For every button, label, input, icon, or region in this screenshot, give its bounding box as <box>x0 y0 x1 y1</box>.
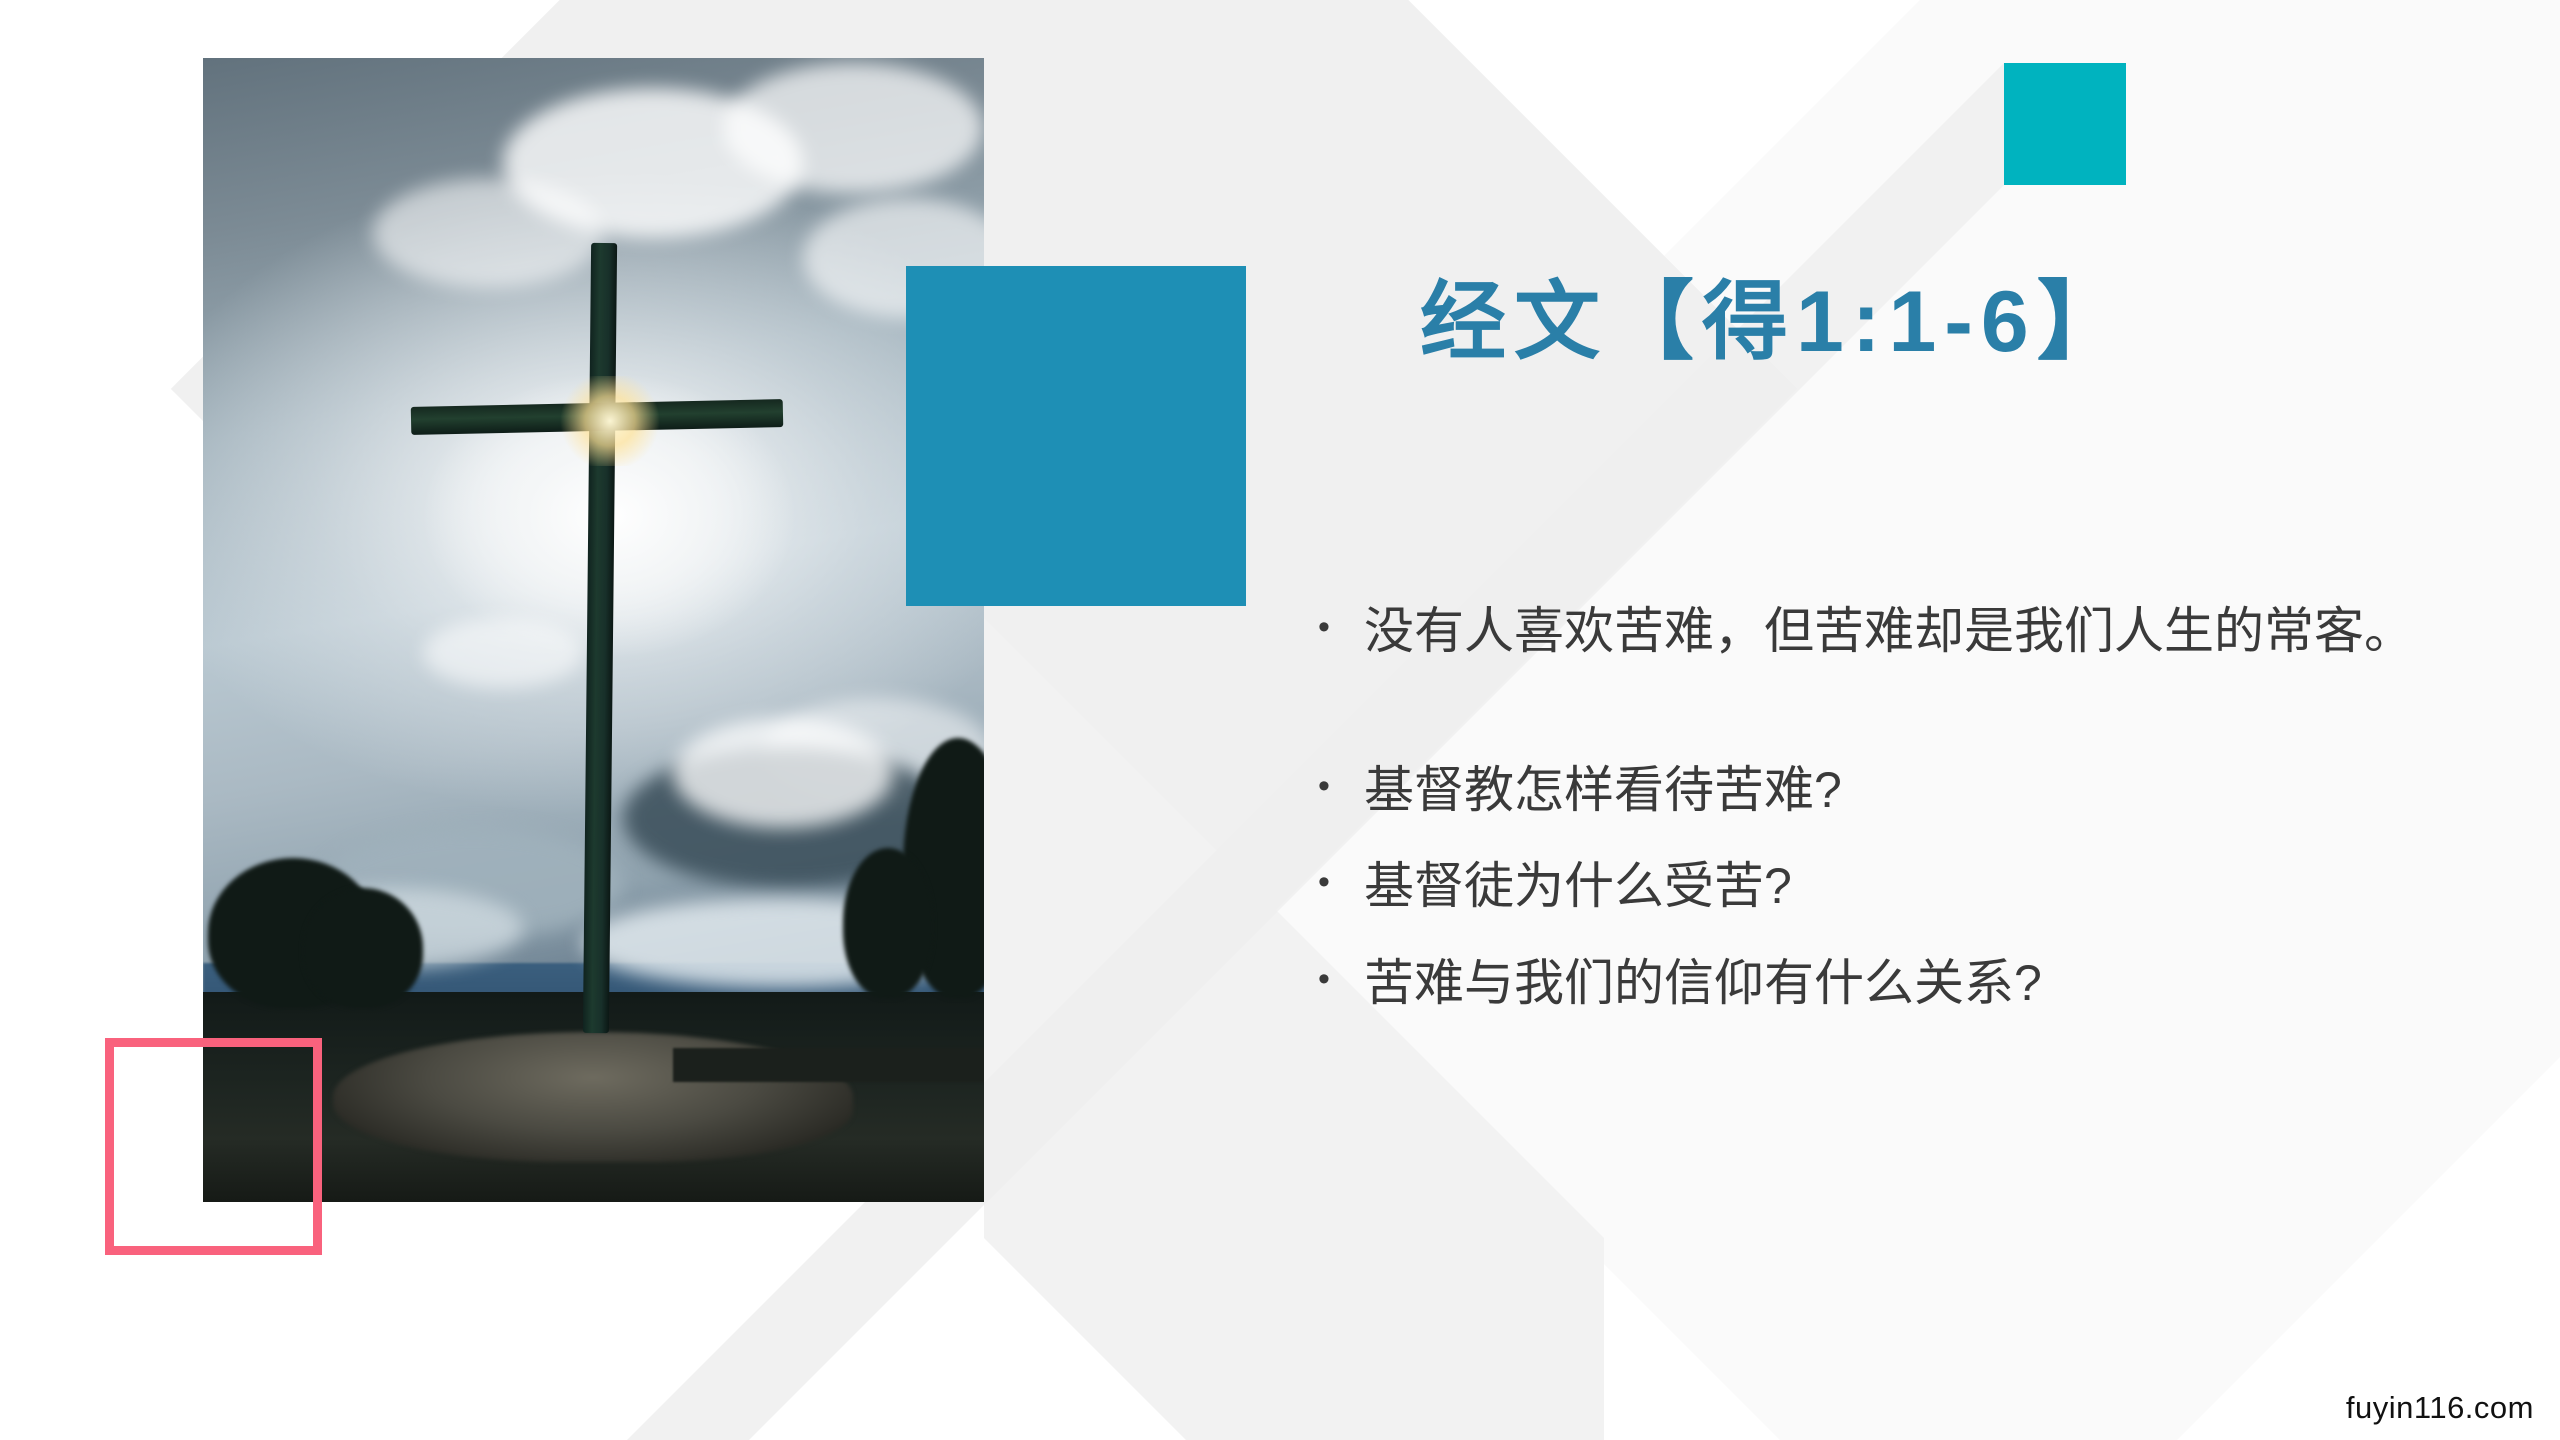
pink-outline-square <box>105 1038 322 1255</box>
cloud <box>723 63 983 193</box>
bullet-dot-icon: • <box>1318 595 1364 660</box>
silhouette-tree <box>843 848 933 998</box>
site-watermark: fuyin116.com <box>2346 1390 2534 1426</box>
list-item: • 苦难与我们的信仰有什么关系? <box>1318 947 2448 1020</box>
list-item-label: 没有人喜欢苦难，但苦难却是我们人生的常客。 <box>1364 595 2448 668</box>
list-item-label: 苦难与我们的信仰有什么关系? <box>1364 947 2448 1020</box>
cloud <box>423 618 583 688</box>
cyan-accent-square <box>2004 63 2126 185</box>
cloud <box>373 178 603 288</box>
list-item: • 基督徒为什么受苦? <box>1318 850 2448 923</box>
bullet-dot-icon: • <box>1318 754 1364 819</box>
list-item-label: 基督教怎样看待苦难? <box>1364 754 2448 827</box>
list-item: • 没有人喜欢苦难，但苦难却是我们人生的常客。 <box>1318 595 2448 668</box>
bullet-list: • 没有人喜欢苦难，但苦难却是我们人生的常客。 • 基督教怎样看待苦难? • 基… <box>1318 595 2448 1043</box>
bullet-dot-icon: • <box>1318 947 1364 1012</box>
bullet-dot-icon: • <box>1318 850 1364 915</box>
silhouette-tree <box>303 888 423 1008</box>
blue-accent-square <box>906 266 1246 606</box>
list-item-label: 基督徒为什么受苦? <box>1364 850 2448 923</box>
slide-canvas: 经文【得1:1-6】 • 没有人喜欢苦难，但苦难却是我们人生的常客。 • 基督教… <box>0 0 2560 1440</box>
storm-cloud-highlight <box>673 718 893 828</box>
cross-photo <box>203 58 984 1202</box>
photo-low-wall <box>673 1048 984 1082</box>
page-title: 经文【得1:1-6】 <box>1420 275 2420 370</box>
list-item: • 基督教怎样看待苦难? <box>1318 754 2448 827</box>
